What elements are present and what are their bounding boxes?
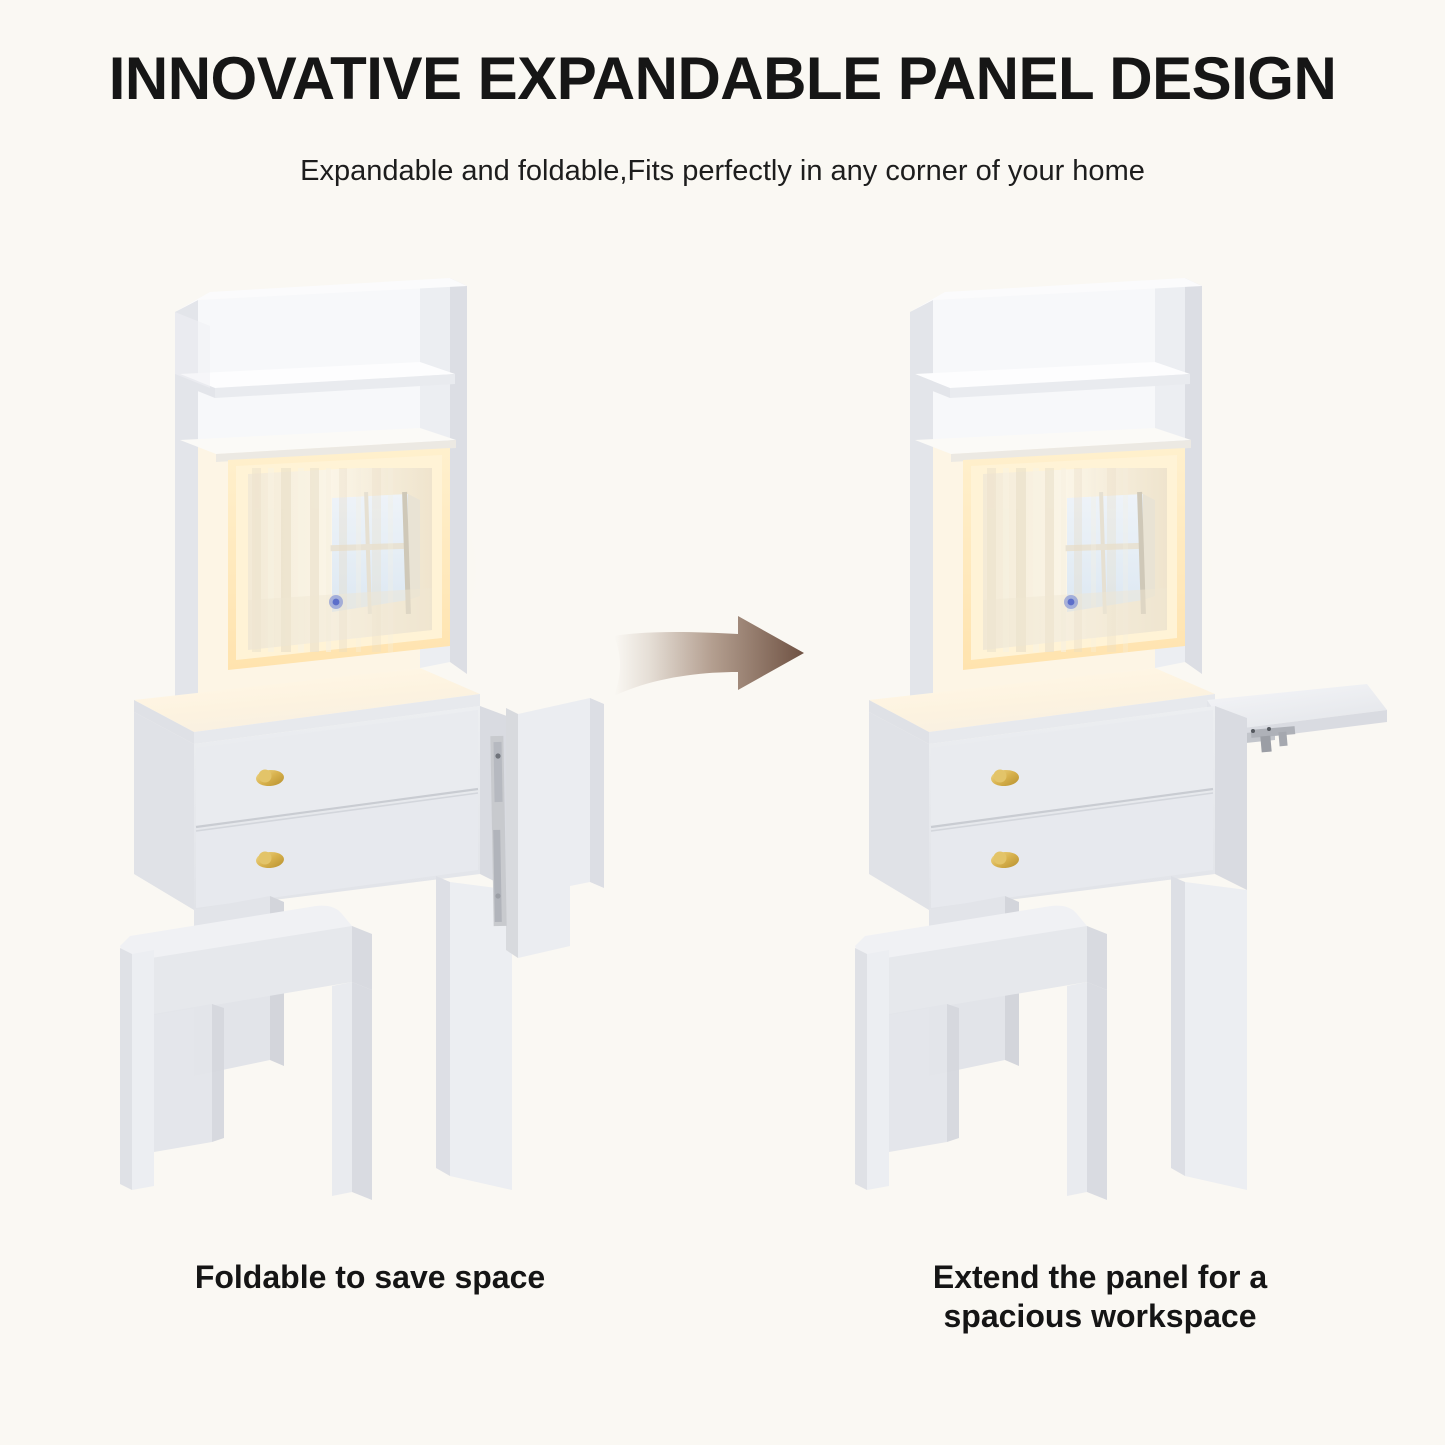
caption-folded: Foldable to save space [60, 1258, 680, 1297]
stool-leg-right [332, 982, 352, 1196]
infographic-stage: INNOVATIVE EXPANDABLE PANEL DESIGN Expan… [0, 0, 1445, 1445]
desk-right-leg [450, 882, 512, 1190]
folding-panel-folded[interactable] [490, 698, 604, 958]
cabinet-left-side [869, 712, 929, 910]
stool-leg-left [867, 950, 889, 1190]
product-illustration-folded [120, 270, 680, 1230]
caption-extended: Extend the panel for a spacious workspac… [820, 1258, 1380, 1336]
desk-right-leg [1185, 882, 1247, 1190]
led-mirror [228, 448, 450, 670]
page-subtitle: Expandable and foldable,Fits perfectly i… [0, 155, 1445, 188]
transition-arrow [612, 608, 812, 700]
caption-extended-line1: Extend the panel for a [933, 1259, 1267, 1295]
product-illustration-extended [855, 270, 1415, 1230]
arrow-shape [614, 616, 804, 696]
hutch-left-upright [910, 300, 933, 716]
caption-extended-line2: spacious workspace [943, 1298, 1256, 1334]
cabinet-right-side [1215, 706, 1247, 890]
stool-leg-left [132, 950, 154, 1190]
stool-leg-right [1067, 982, 1087, 1196]
cabinet-left-side [134, 712, 194, 910]
page-title: INNOVATIVE EXPANDABLE PANEL DESIGN [0, 44, 1445, 113]
led-mirror [963, 448, 1185, 670]
